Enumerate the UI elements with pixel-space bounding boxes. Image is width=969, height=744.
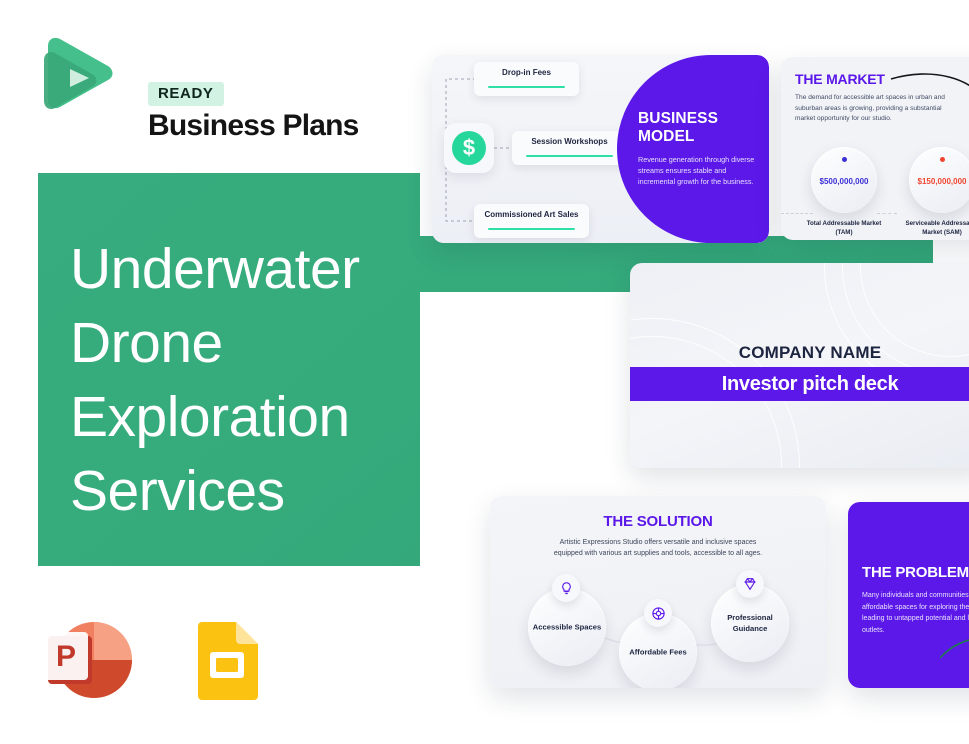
slide-market[interactable]: THE MARKET The demand for accessible art… bbox=[781, 57, 969, 240]
metric-caption-1: Serviceable Addressable Market (SAM) bbox=[899, 219, 969, 237]
brand-name: Business Plans bbox=[148, 109, 359, 143]
play-triangle-logo-icon bbox=[40, 36, 114, 122]
market-title: THE MARKET bbox=[795, 71, 885, 87]
divider-mid bbox=[877, 213, 897, 214]
metric-value: $150,000,000 bbox=[909, 177, 969, 186]
ready-badge: READY bbox=[148, 82, 224, 106]
revenue-hub-icon-box: $ bbox=[444, 123, 494, 173]
node-label: Accessible Spaces bbox=[532, 622, 602, 633]
node-label: Affordable Fees bbox=[623, 647, 693, 658]
underline-accent bbox=[488, 86, 565, 89]
metric-caption-0: Total Addressable Market (TAM) bbox=[801, 219, 887, 237]
decor-curve bbox=[940, 630, 969, 670]
item-label: Session Workshops bbox=[512, 137, 627, 146]
investor-pitch-banner: Investor pitch deck bbox=[630, 367, 969, 401]
curved-arrow-icon bbox=[889, 69, 969, 117]
investor-pitch-label: Investor pitch deck bbox=[630, 367, 969, 401]
market-metric-1[interactable]: $150,000,000 bbox=[909, 147, 969, 213]
company-name: COMPANY NAME bbox=[630, 343, 969, 363]
business-model-item-0[interactable]: Drop-in Fees bbox=[474, 62, 579, 96]
business-model-item-1[interactable]: Session Workshops bbox=[512, 131, 627, 165]
market-metric-0[interactable]: $500,000,000 bbox=[811, 147, 877, 213]
dollar-sign-icon: $ bbox=[452, 131, 486, 165]
metric-dot-icon bbox=[940, 157, 945, 162]
node-label: Professional Guidance bbox=[715, 612, 785, 634]
item-label: Commissioned Art Sales bbox=[474, 210, 589, 219]
business-model-item-2[interactable]: Commissioned Art Sales bbox=[474, 204, 589, 238]
item-label: Drop-in Fees bbox=[474, 68, 579, 77]
promo-canvas: READY Business Plans Underwater Drone Ex… bbox=[0, 0, 969, 744]
underline-accent bbox=[488, 228, 575, 231]
business-model-description: Revenue generation through diverse strea… bbox=[638, 155, 760, 187]
diamond-icon bbox=[736, 570, 764, 598]
google-slides-icon bbox=[192, 622, 262, 700]
target-icon bbox=[644, 599, 672, 627]
divider-left bbox=[781, 213, 813, 214]
problem-title: THE PROBLEM bbox=[862, 564, 969, 581]
svg-text:P: P bbox=[56, 640, 76, 673]
underline-accent bbox=[526, 155, 613, 158]
metric-dot-icon bbox=[842, 157, 847, 162]
slide-business-model[interactable]: $ Drop-in Fees Session Workshops Commiss… bbox=[432, 55, 769, 243]
business-model-title: BUSINESS MODEL bbox=[638, 110, 756, 146]
slide-solution[interactable]: THE SOLUTION Artistic Expressions Studio… bbox=[490, 496, 826, 688]
lightbulb-icon bbox=[552, 574, 580, 602]
slide-title-cover[interactable]: COMPANY NAME Investor pitch deck bbox=[630, 263, 969, 468]
metric-value: $500,000,000 bbox=[811, 177, 877, 186]
powerpoint-icon: P bbox=[40, 616, 132, 704]
brand-logo[interactable]: READY Business Plans bbox=[40, 34, 370, 126]
slide-problem[interactable]: THE PROBLEM Many individuals and communi… bbox=[848, 502, 969, 688]
page-title: Underwater Drone Exploration Services bbox=[70, 232, 430, 528]
